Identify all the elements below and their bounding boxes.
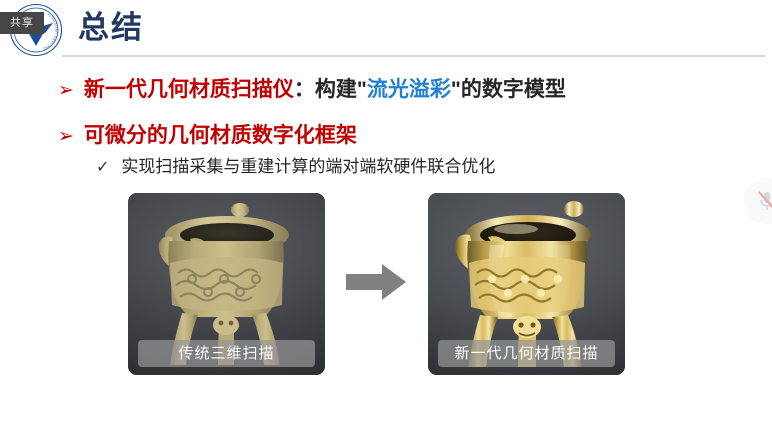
figure-next-gen-scan: 新一代几何材质扫描 <box>428 193 625 375</box>
page-title: 总结 <box>78 8 144 48</box>
figure-right-caption: 新一代几何材质扫描 <box>438 340 615 367</box>
bullet-1-segment-4: "的数字模型 <box>451 78 566 101</box>
sub-bullet-text: 实现扫描采集与重建计算的端对端软硬件联合优化 <box>121 158 495 177</box>
bullet-marker-icon: ➢ <box>58 81 74 100</box>
sub-bullet-item-1: ✓ 实现扫描采集与重建计算的端对端软硬件联合优化 <box>96 158 495 177</box>
bullet-marker-icon: ➢ <box>58 127 74 146</box>
screen-share-badge: 共享 <box>0 12 44 34</box>
slide-header: ZHEJIANG UNIVERSITY 求是 共享 总结 <box>0 0 772 60</box>
title-divider <box>62 55 765 57</box>
microphone-muted-icon[interactable] <box>744 178 772 224</box>
slide-canvas: ZHEJIANG UNIVERSITY 求是 共享 总结 ➢ 新一代几何材质扫描… <box>0 0 772 435</box>
bullet-1-segment-2: ：构建" <box>294 78 367 101</box>
bullet-2-segment-1: 可微分的几何材质数字化框架 <box>84 124 357 147</box>
right-arrow-icon <box>344 262 408 302</box>
bullet-item-2: ➢ 可微分的几何材质数字化框架 <box>58 124 357 147</box>
figure-left-caption: 传统三维扫描 <box>138 340 315 367</box>
bullet-1-segment-1: 新一代几何材质扫描仪 <box>84 78 294 101</box>
figure-traditional-scan: 传统三维扫描 <box>128 193 325 375</box>
checkmark-icon: ✓ <box>96 160 109 176</box>
bullet-item-1: ➢ 新一代几何材质扫描仪：构建"流光溢彩"的数字模型 <box>58 78 566 101</box>
bullet-1-segment-3: 流光溢彩 <box>367 78 451 101</box>
